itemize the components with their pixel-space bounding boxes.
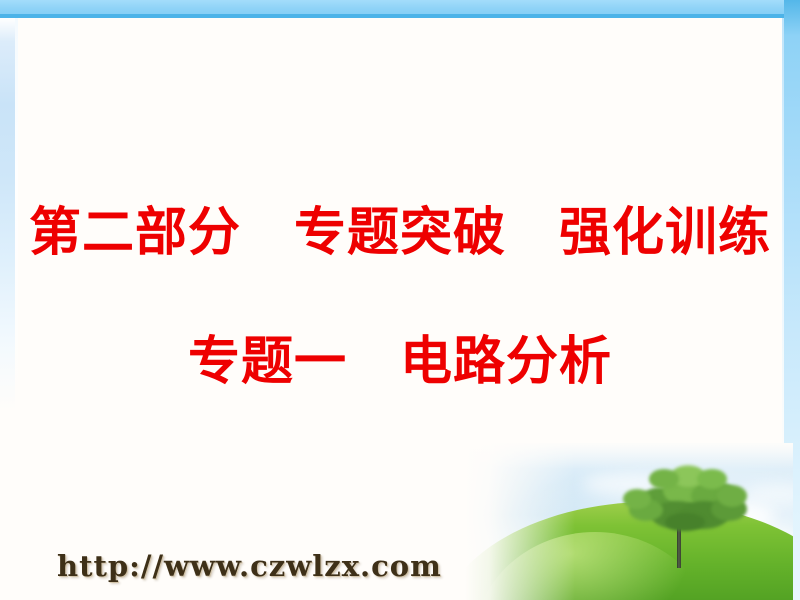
slide-subtitle-line-2: 专题一 电路分析 [0, 336, 800, 388]
presentation-slide: 第二部分 专题突破 强化训练 专题一 电路分析 http://www.czwlz… [0, 0, 800, 600]
slide-title-line-1: 第二部分 专题突破 强化训练 [0, 207, 800, 259]
website-url[interactable]: http://www.czwlzx.com [57, 549, 442, 583]
title-block: 第二部分 专题突破 强化训练 专题一 电路分析 [0, 0, 800, 600]
